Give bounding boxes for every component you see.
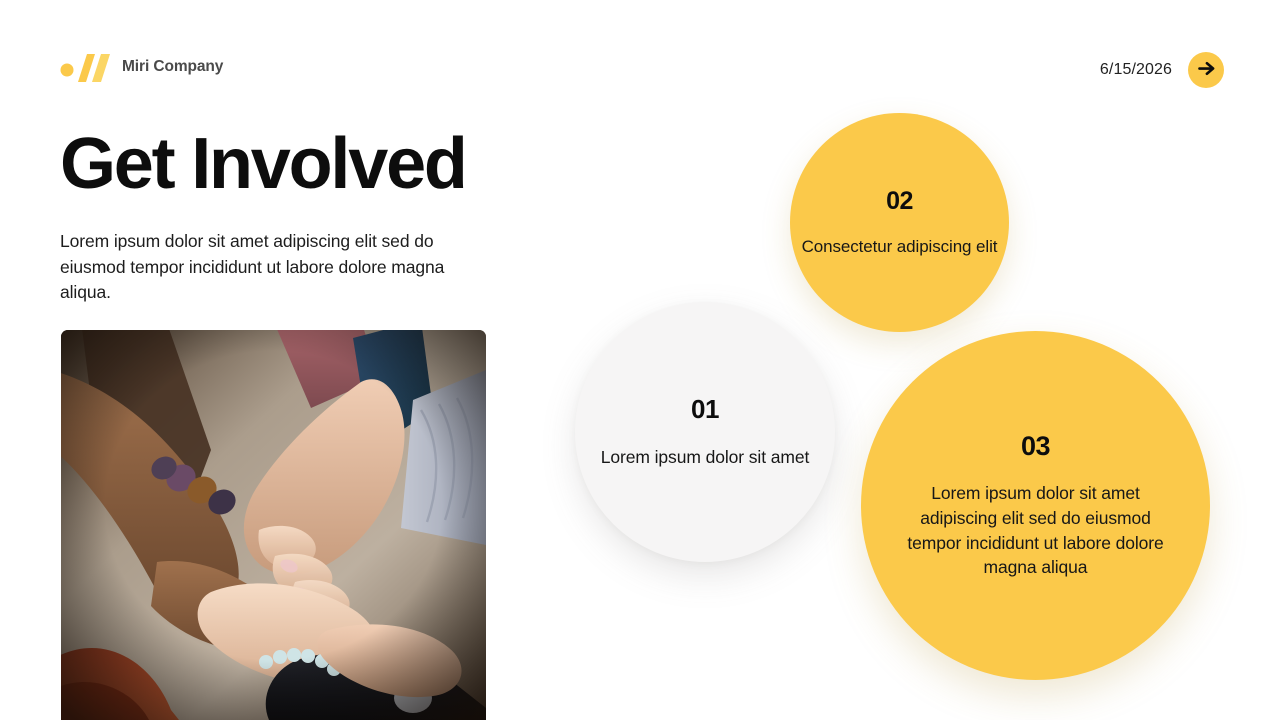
step-number: 01 — [691, 394, 719, 425]
header-actions: 6/15/2026 — [1100, 52, 1224, 88]
slide-date: 6/15/2026 — [1100, 61, 1172, 79]
miri-logo-mark-icon — [60, 52, 112, 82]
hands-together-photo — [61, 330, 486, 720]
step-number: 03 — [1021, 431, 1050, 462]
intro-paragraph: Lorem ipsum dolor sit amet adipiscing el… — [60, 229, 492, 306]
next-slide-button[interactable] — [1188, 52, 1224, 88]
step-text: Consectetur adipiscing elit — [802, 234, 998, 259]
step-circle-01[interactable]: 01 Lorem ipsum dolor sit amet — [575, 302, 835, 562]
step-number: 02 — [886, 187, 913, 216]
brand-name: Miri Company — [122, 58, 223, 76]
step-circle-03[interactable]: 03 Lorem ipsum dolor sit amet adipiscing… — [861, 331, 1210, 680]
step-text: Lorem ipsum dolor sit amet adipiscing el… — [900, 481, 1172, 580]
brand-logo[interactable]: Miri Company — [60, 52, 223, 82]
arrow-right-icon — [1196, 58, 1217, 82]
step-circle-02[interactable]: 02 Consectetur adipiscing elit — [790, 113, 1009, 332]
step-text: Lorem ipsum dolor sit amet — [601, 445, 809, 470]
slide-root: Miri Company 6/15/2026 Get Involved Lore… — [0, 0, 1280, 720]
page-title: Get Involved — [60, 128, 466, 201]
